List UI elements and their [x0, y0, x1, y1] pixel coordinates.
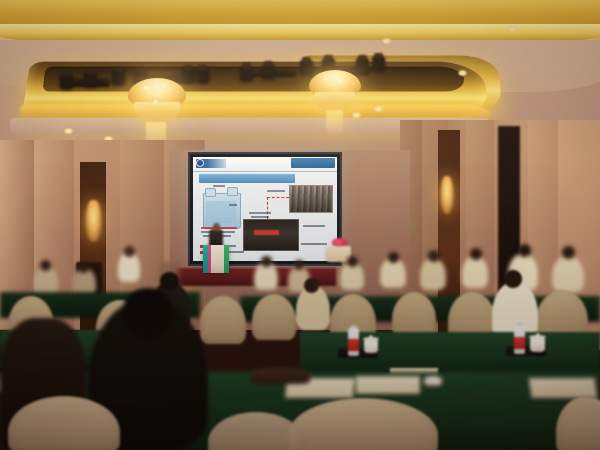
attendee-head [124, 246, 135, 257]
banquet-chair [252, 294, 296, 340]
notepad-paper [356, 376, 420, 394]
schematic-node-right [227, 187, 238, 196]
track-light-icon [60, 74, 73, 89]
university-crest-logo [196, 159, 226, 168]
attendee-head [562, 246, 575, 259]
tea-cup [530, 338, 545, 352]
schematic-node-left [205, 188, 216, 197]
attendee-head [304, 278, 319, 293]
track-light-icon [84, 72, 97, 87]
downlight-icon [382, 38, 391, 44]
wall-sconce-left [85, 200, 102, 242]
attendee-head [470, 248, 482, 260]
podium-accent-green [224, 245, 229, 273]
annotation-leader-line [267, 197, 289, 198]
attendee-head [504, 270, 522, 288]
attendee-head [40, 260, 51, 271]
notepad-paper [529, 378, 598, 398]
attendee-head [122, 288, 174, 338]
micrograph-red-label [254, 230, 279, 235]
tea-cup [364, 340, 378, 353]
track-light-icon [262, 64, 275, 79]
track-light-icon [196, 68, 209, 83]
tea-cup-lid-only [424, 376, 442, 386]
downlight-icon [64, 128, 73, 134]
schematic-label [229, 204, 237, 206]
schematic-label [213, 185, 225, 187]
bottle-label [348, 339, 359, 351]
dark-micrograph [243, 219, 299, 251]
handbag [250, 368, 310, 384]
figure-caption [301, 243, 327, 245]
attendee-head [518, 244, 531, 257]
sem-micrograph [289, 185, 333, 213]
track-light-icon [372, 56, 385, 71]
attendee-head [347, 256, 358, 267]
cup-knob [370, 335, 373, 338]
attendee-head [261, 256, 272, 267]
podium-body [203, 245, 229, 273]
sem-annotation [267, 190, 285, 192]
slide-section-tab [199, 174, 295, 183]
water-bottle [348, 328, 359, 356]
bottle-label [514, 337, 525, 349]
conference-hall-photo [0, 0, 600, 450]
attendee [462, 256, 488, 288]
figure-caption [303, 225, 325, 227]
bottle-cap [350, 325, 357, 328]
attendee-head [428, 250, 440, 262]
track-light-icon [240, 66, 253, 81]
downlight-icon [508, 26, 517, 32]
attendee [552, 256, 584, 292]
figure-caption [249, 212, 271, 214]
attendee-head [388, 252, 399, 263]
bottle-cap [516, 323, 523, 326]
slide-title-tab [291, 158, 335, 168]
wall-sconce-right [440, 176, 454, 214]
figure-caption [251, 216, 269, 218]
chandelier-right [306, 70, 364, 138]
podium-accent-pink [208, 245, 211, 273]
cup-knob [536, 333, 539, 336]
water-bottle [514, 326, 525, 354]
attendee-head [294, 260, 304, 270]
speaker-podium [203, 243, 229, 273]
attendee-head [160, 272, 179, 290]
attendee-head [78, 262, 89, 273]
downlight-icon [458, 70, 467, 76]
downlight-icon [374, 106, 383, 112]
speaker-head [213, 223, 220, 231]
attendee [420, 258, 446, 290]
